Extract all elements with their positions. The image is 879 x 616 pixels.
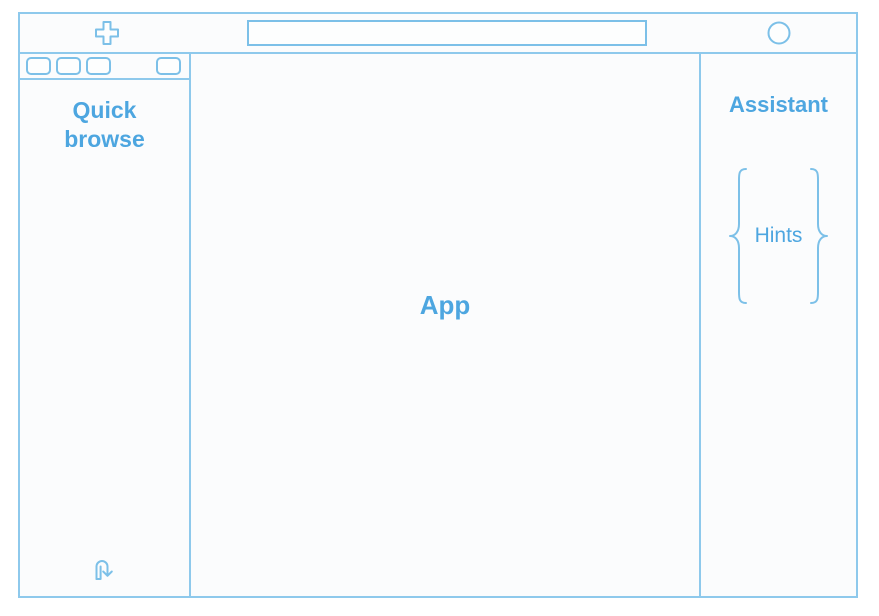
left-curly-brace-icon — [727, 166, 749, 306]
top-bar-center-section — [193, 14, 701, 52]
plus-icon[interactable] — [94, 20, 120, 46]
tool-chip-2[interactable] — [56, 57, 81, 75]
right-curly-brace-icon — [808, 166, 830, 306]
hints-label: Hints — [749, 224, 809, 248]
sidebar-title: Quick browse — [20, 96, 189, 155]
assistant-title: Assistant — [729, 92, 828, 118]
top-bar — [20, 14, 856, 54]
avatar-circle-icon[interactable] — [767, 21, 791, 45]
tool-chip-3[interactable] — [86, 57, 111, 75]
sidebar-footer — [20, 542, 189, 596]
top-bar-left-section — [20, 14, 193, 52]
tool-chip-1[interactable] — [26, 57, 51, 75]
sidebar-toolbar — [20, 54, 189, 80]
u-turn-arrow-icon[interactable] — [90, 554, 120, 584]
wireframe-window: Quick browse App Assistant — [18, 12, 858, 598]
main-app-panel[interactable]: App — [191, 54, 701, 596]
window-body: Quick browse App Assistant — [20, 54, 856, 596]
sidebar: Quick browse — [20, 54, 191, 596]
top-bar-right-section — [701, 14, 856, 52]
main-app-label: App — [420, 290, 471, 321]
assistant-panel: Assistant Hints — [701, 54, 856, 596]
search-input[interactable] — [247, 20, 647, 46]
hints-block: Hints — [701, 166, 856, 306]
tool-chip-4[interactable] — [156, 57, 181, 75]
